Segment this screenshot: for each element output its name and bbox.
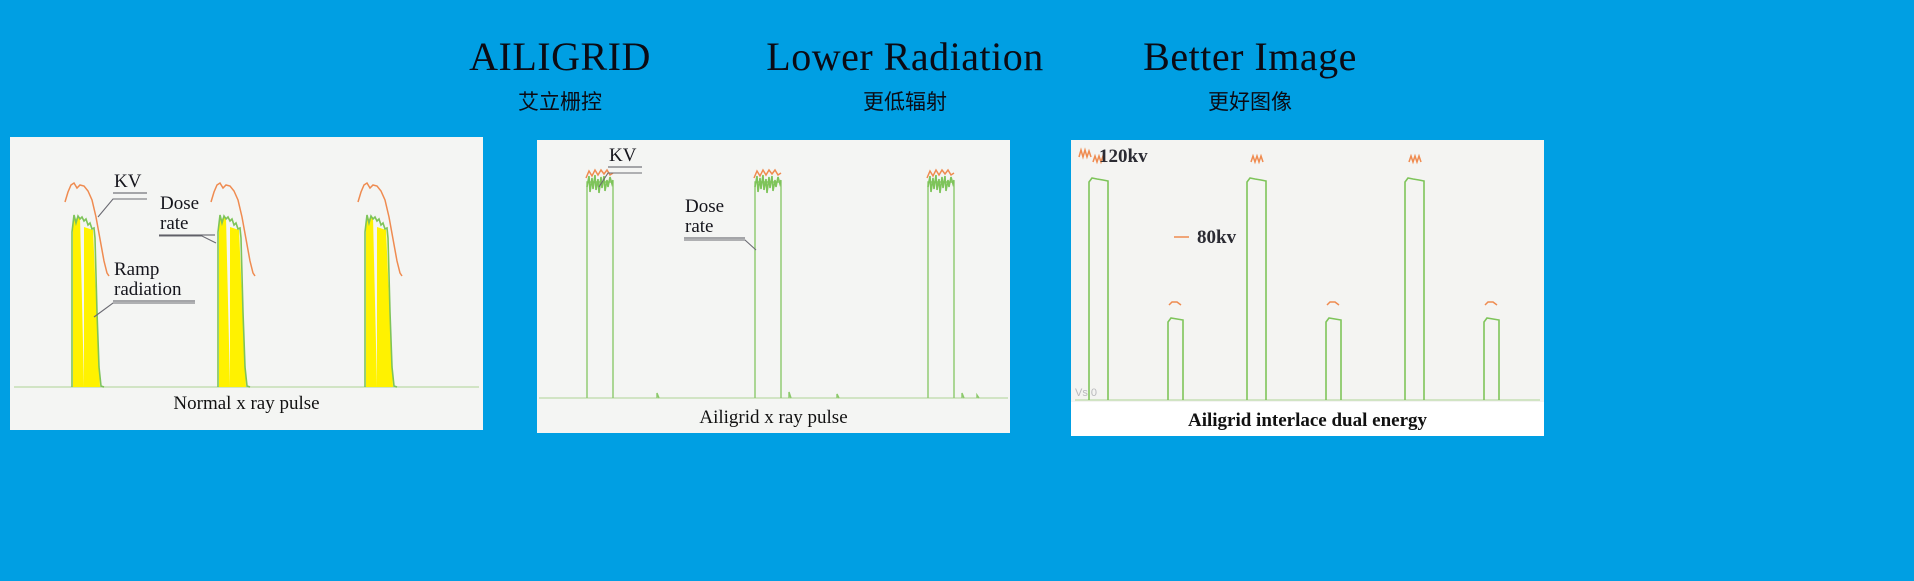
annotation-ramp-leader [94,303,195,317]
kv-marker-120-3 [1409,156,1421,162]
annotation-kv: KV [599,145,642,187]
pulse-120kv-2 [1247,178,1266,400]
panel-caption-ailigrid: Ailigrid x ray pulse [537,407,1010,429]
chart-panel-normal-pulse: KV Dose rate Ramp radiation [10,137,483,430]
annotation-ramp-line1: Ramp [114,259,159,280]
baseline-blip-4 [962,393,964,398]
pulse-120kv-1 [1089,178,1108,400]
dose-rate-noise-2 [755,175,781,193]
pulse-80kv-2 [1326,318,1341,400]
annotation-dose-leader [159,236,216,243]
baseline-blip-3 [837,394,839,398]
baseline-blip-5 [977,395,979,398]
annotation-dose-line1: Dose [685,196,724,217]
header-banner: AILIGRID 艾立栅控 Lower Radiation 更低辐射 Bette… [0,0,1914,160]
annotation-dose-line1: Dose [160,193,199,214]
annotation-kv-label: KV [114,171,142,192]
panel-caption-dual-energy: Ailigrid interlace dual energy [1071,410,1544,432]
dose-rate-pulse-3 [928,182,954,398]
legend-120kv: 120kv [1079,146,1148,167]
kv-pulse-2 [754,170,781,178]
legend-80kv: 80kv [1174,227,1237,248]
dose-rate-noise-1 [587,175,613,193]
annotation-dose-line2: rate [160,213,188,234]
kv-marker-80-2 [1327,302,1339,305]
legend-120kv-marker-icon [1079,150,1091,157]
dose-rate-noise-3 [928,175,954,193]
baseline-blip-2 [789,392,791,398]
kv-pulse-3 [927,170,954,178]
kv-marker-120-2 [1251,156,1263,162]
normal-pulse-chart: KV Dose rate Ramp radiation [10,137,483,430]
kv-pulse-1 [586,170,613,178]
dose-rate-pulse-2 [755,182,781,398]
ramp-radiation-area-2 [219,217,230,387]
dose-rate-pulse-1 [587,182,613,398]
dual-energy-chart: 120kv 80kv Vs 0 [1071,140,1544,436]
ailigrid-pulse-chart: KV Dose rate [537,140,1010,433]
baseline-blip-1 [657,393,659,398]
annotation-ramp-radiation: Ramp radiation [94,259,195,317]
annotation-dose-rate: Dose rate [159,193,216,243]
pulse-80kv-3 [1484,318,1499,400]
ramp-radiation-area-1 [73,217,84,387]
annotation-kv-leader [98,199,147,217]
chart-panel-ailigrid-pulse: KV Dose rate [537,140,1010,433]
annotation-dose-rate: Dose rate [684,196,756,250]
axis-corner-label: Vs 0 [1075,387,1097,399]
kv-marker-80-1 [1169,302,1181,305]
annotation-dose-leader [684,240,756,250]
kv-marker-group [1093,156,1497,305]
annotation-kv-label: KV [609,145,637,166]
kv-marker-80-3 [1485,302,1497,305]
header-cn-2: 更好图像 [1020,87,1480,117]
pulse-80kv-1 [1168,318,1183,400]
header-en-2: Better Image [1020,35,1480,79]
annotation-kv: KV [98,171,147,217]
pulse-120kv-3 [1405,178,1424,400]
chart-panel-dual-energy: 120kv 80kv Vs 0 [1071,140,1544,436]
ramp-radiation-area-3 [366,217,377,387]
annotation-ramp-line2: radiation [114,279,182,300]
header-group-better-image: Better Image 更好图像 [1020,35,1480,117]
annotation-dose-line2: rate [685,216,713,237]
legend-120kv-label: 120kv [1099,146,1148,167]
panel-caption-normal: Normal x ray pulse [10,393,483,415]
legend-80kv-label: 80kv [1197,227,1237,248]
